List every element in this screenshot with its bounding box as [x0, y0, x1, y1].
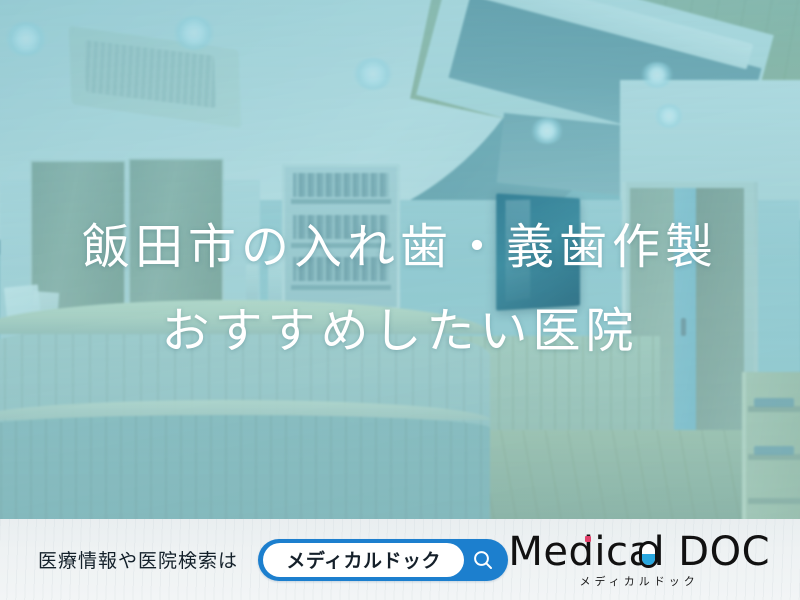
search-input[interactable]: メディカルドック — [263, 543, 464, 577]
logo-subtitle: メディカルドック — [580, 577, 699, 588]
light-wash-overlay — [0, 0, 800, 520]
search-icon — [471, 548, 495, 572]
search-button[interactable] — [462, 539, 504, 581]
logo-i-dot-icon — [585, 536, 591, 542]
bottom-bar-lead-text: 医療情報や医院検索は — [38, 546, 238, 573]
bottom-bar: 医療情報や医院検索は メディカルドック Medical DOC メディカルドック — [0, 519, 800, 600]
banner-root: 飯田市の入れ歯・義歯作製 おすすめしたい医院 医療情報や医院検索は メディカルド… — [0, 0, 800, 600]
search-input-value: メディカルドック — [286, 546, 441, 573]
clinic-interior-photo — [0, 0, 800, 520]
medical-doc-logo[interactable]: Medical DOC メディカルドック — [508, 532, 770, 588]
logo-capsule-icon — [639, 541, 658, 568]
logo-wordmark: Medical DOC — [508, 532, 770, 572]
search-bar[interactable]: メディカルドック — [258, 539, 508, 581]
